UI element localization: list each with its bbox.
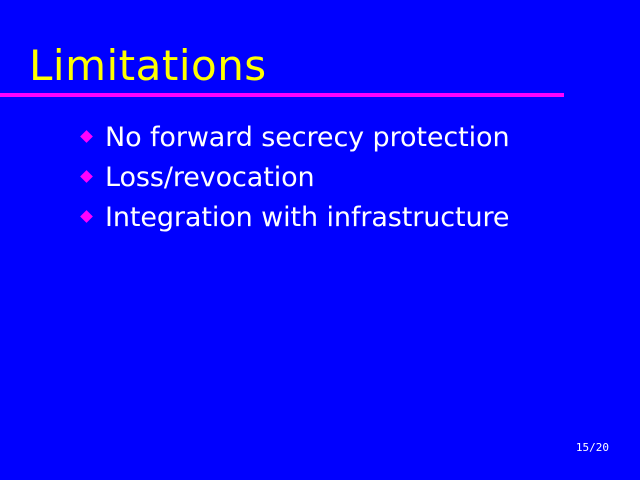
title-divider	[0, 93, 564, 97]
presentation-slide: Limitations No forward secrecy protectio…	[0, 0, 640, 480]
diamond-bullet-icon	[80, 198, 105, 238]
page-number: 15/20	[576, 442, 609, 454]
list-item: Loss/revocation	[80, 158, 620, 198]
diamond-bullet-icon	[80, 158, 105, 198]
list-item: Integration with infrastructure	[80, 198, 620, 238]
list-item-label: Loss/revocation	[105, 162, 620, 194]
list-item-label: No forward secrecy protection	[105, 122, 620, 154]
bullet-list: No forward secrecy protection Loss/revoc…	[80, 118, 620, 238]
list-item: No forward secrecy protection	[80, 118, 620, 158]
page-title: Limitations	[29, 42, 267, 90]
list-item-label: Integration with infrastructure	[105, 202, 620, 234]
diamond-bullet-icon	[80, 118, 105, 158]
